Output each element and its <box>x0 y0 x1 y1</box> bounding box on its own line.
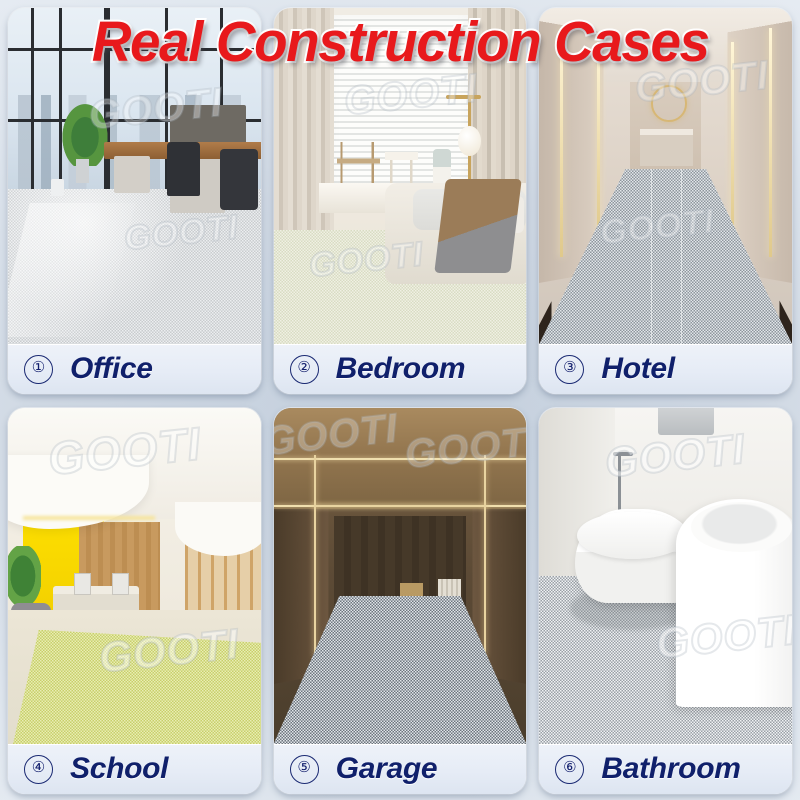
school-plant <box>8 546 41 606</box>
bedroom-floor-lamp-globe <box>458 126 481 156</box>
case-number-badge: ③ <box>555 355 584 384</box>
hotel-round-mirror <box>651 85 688 122</box>
school-cove-light <box>23 516 154 520</box>
hotel-floor-grout-line <box>651 169 653 344</box>
school-monitor <box>74 573 91 595</box>
case-card-school[interactable]: GOOTI GOOTI ④ School <box>8 408 261 794</box>
case-card-hotel[interactable]: GOOTI GOOTI ③ Hotel <box>539 8 792 394</box>
office-bin <box>51 179 64 196</box>
garage-led-trim <box>314 455 316 657</box>
hotel-led-strip <box>560 28 563 256</box>
case-photo-office: GOOTI GOOTI <box>8 8 261 344</box>
case-number-badge: ④ <box>24 755 53 784</box>
hotel-led-strip <box>769 28 772 256</box>
case-photo-garage: GOOTI GOOTI <box>274 408 527 744</box>
case-caption-hotel: ③ Hotel <box>539 344 792 394</box>
case-card-bathroom[interactable]: GOOTI GOOTI ⑥ Bathroom <box>539 408 792 794</box>
hotel-led-strip <box>597 42 600 237</box>
case-card-garage[interactable]: GOOTI GOOTI ⑤ Garage <box>274 408 527 794</box>
case-photo-hotel: GOOTI GOOTI <box>539 8 792 344</box>
office-chair <box>220 149 258 209</box>
case-caption-school: ④ School <box>8 744 261 794</box>
case-card-bedroom[interactable]: GOOTI GOOTI ② Bedroom <box>274 8 527 394</box>
garage-ceiling-light-line <box>274 458 527 460</box>
bathroom-bidet-spray <box>613 452 633 456</box>
school-terrazzo-floor <box>13 630 261 744</box>
office-desk-pedestal <box>114 156 149 193</box>
case-label-hotel: Hotel <box>601 354 675 384</box>
case-caption-garage: ⑤ Garage <box>274 744 527 794</box>
school-monitor <box>112 573 129 595</box>
bedroom-floor-lamp-arm <box>446 95 481 99</box>
case-number-badge: ① <box>24 355 53 384</box>
case-label-garage: Garage <box>336 754 438 784</box>
garage-led-trim <box>314 505 486 507</box>
case-caption-bedroom: ② Bedroom <box>274 344 527 394</box>
bathroom-sink-basin <box>691 502 792 552</box>
case-photo-bathroom: GOOTI GOOTI <box>539 408 792 744</box>
case-card-office[interactable]: GOOTI GOOTI ① Office <box>8 8 261 394</box>
hotel-floor-grout-line <box>681 169 683 344</box>
case-number-badge: ⑤ <box>290 755 319 784</box>
office-chair <box>167 142 200 196</box>
case-label-school: School <box>70 754 168 784</box>
cases-grid: GOOTI GOOTI ① Office GOOTI G <box>0 0 800 800</box>
hotel-led-strip <box>731 42 734 237</box>
case-photo-bedroom: GOOTI GOOTI <box>274 8 527 344</box>
case-number-badge: ② <box>290 355 319 384</box>
case-photo-school: GOOTI GOOTI <box>8 408 261 744</box>
case-number-badge: ⑥ <box>555 755 584 784</box>
bathroom-flush-plate <box>658 408 714 435</box>
office-plant <box>61 102 109 166</box>
case-label-bedroom: Bedroom <box>336 354 466 384</box>
case-label-office: Office <box>70 354 153 384</box>
bathroom-pipe <box>618 455 621 515</box>
case-caption-office: ① Office <box>8 344 261 394</box>
office-window-mullion <box>31 8 34 216</box>
office-planter <box>76 159 89 183</box>
case-caption-bathroom: ⑥ Bathroom <box>539 744 792 794</box>
bedroom-throw-blanket <box>435 179 522 273</box>
hotel-console-table <box>640 129 693 166</box>
bathroom-toilet-lid <box>577 512 688 559</box>
case-label-bathroom: Bathroom <box>601 754 740 784</box>
garage-led-trim <box>484 455 486 657</box>
